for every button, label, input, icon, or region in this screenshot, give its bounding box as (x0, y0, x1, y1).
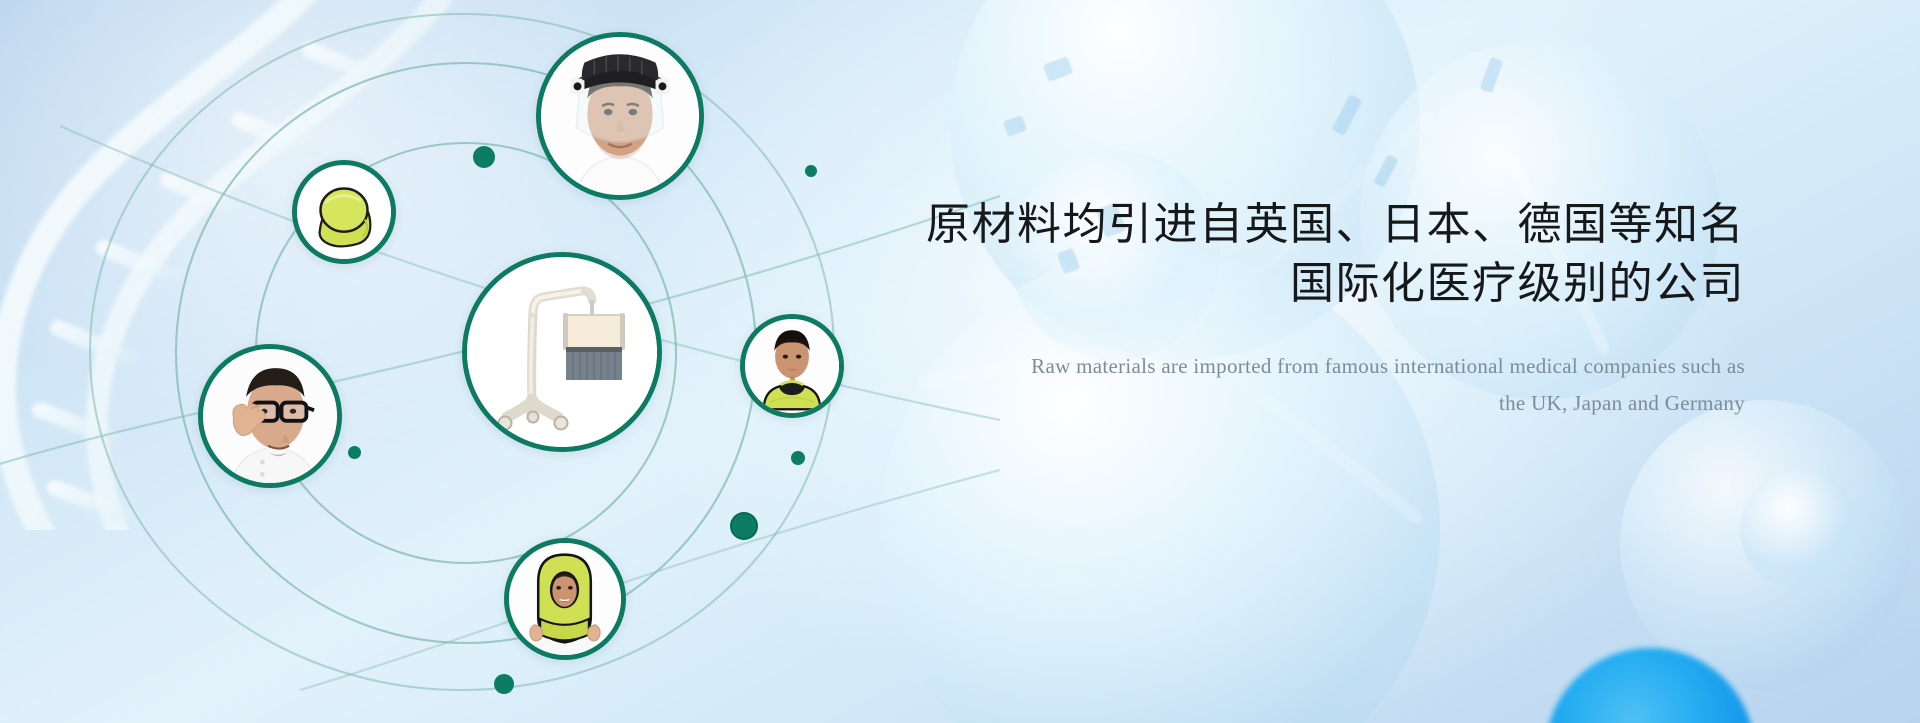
background-flake (1043, 56, 1074, 82)
photo-woman-thyroid-collar (745, 319, 839, 413)
background-flake (1480, 57, 1504, 93)
bubble-lead-cap[interactable] (292, 160, 396, 264)
photo-woman-lead-hood (509, 543, 621, 655)
accent-dot (348, 446, 361, 459)
photo-man-face-shield (541, 37, 699, 195)
accent-dot (730, 512, 758, 540)
background-flake (1373, 154, 1399, 188)
bubble-woman-lead-hood[interactable] (504, 538, 626, 660)
headline-line-2: 国际化医疗级别的公司 (925, 255, 1745, 314)
accent-dot (805, 165, 817, 177)
background-flake (1331, 94, 1362, 136)
accent-dot (494, 674, 514, 694)
photo-mobile-x-ray-shield (467, 257, 657, 447)
background-flake (1003, 115, 1027, 137)
banner-copy: 原材料均引进自英国、日本、德国等知名 国际化医疗级别的公司 Raw materi… (925, 196, 1745, 421)
blue-sphere (1545, 648, 1755, 723)
photo-man-lead-glasses (203, 349, 337, 483)
molecule-sphere (1620, 400, 1910, 690)
accent-dot (473, 146, 495, 168)
bubble-man-face-shield[interactable] (536, 32, 704, 200)
hero-banner: 原材料均引进自英国、日本、德国等知名 国际化医疗级别的公司 Raw materi… (0, 0, 1920, 723)
accent-dot (791, 451, 805, 465)
photo-lead-cap (297, 165, 391, 259)
bubble-woman-thyroid-collar[interactable] (740, 314, 844, 418)
headline-line-1: 原材料均引进自英国、日本、德国等知名 (925, 196, 1745, 255)
bubble-man-lead-glasses[interactable] (198, 344, 342, 488)
subtitle-line-2: the UK, Japan and Germany (925, 385, 1745, 422)
subtitle-block: Raw materials are imported from famous i… (925, 348, 1745, 422)
bubble-mobile-x-ray-shield[interactable] (462, 252, 662, 452)
subtitle-line-1: Raw materials are imported from famous i… (925, 348, 1745, 385)
molecule-sphere (1740, 470, 1860, 590)
